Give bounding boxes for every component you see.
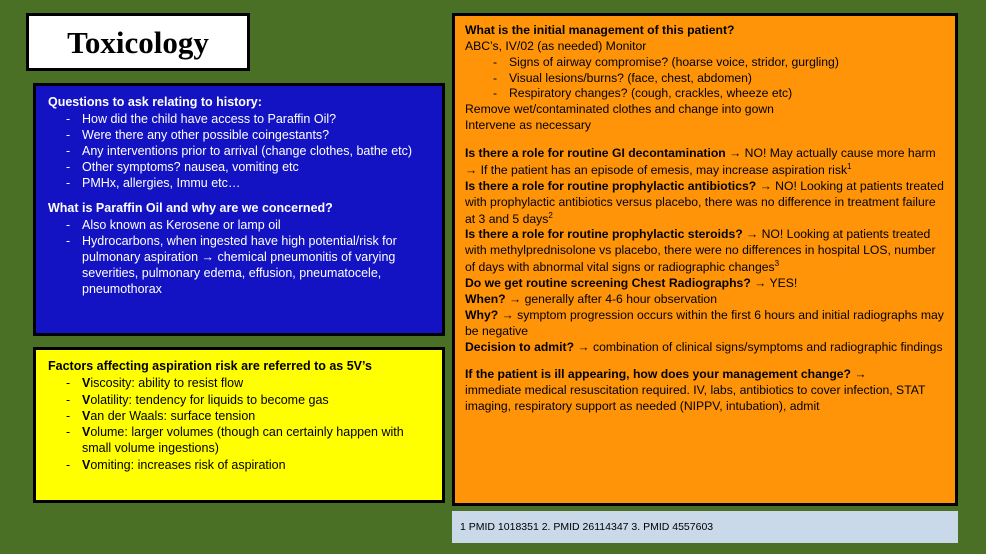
title-box: Toxicology bbox=[26, 13, 250, 71]
qa-block: When? → generally after 4-6 hour observa… bbox=[465, 292, 945, 308]
list-item-label: Visual lesions/burns? (face, chest, abdo… bbox=[509, 71, 752, 85]
initial-management-panel: What is the initial management of this p… bbox=[452, 13, 958, 506]
qa-citation: 1 bbox=[847, 162, 851, 171]
list-item-label: Other symptoms? nausea, vomiting etc bbox=[82, 160, 299, 174]
assessment-signs-list: -Signs of airway compromise? (hoarse voi… bbox=[465, 55, 945, 103]
list-item: -Respiratory changes? (cough, crackles, … bbox=[465, 86, 945, 102]
dash-bullet-icon: - bbox=[66, 159, 70, 175]
dash-bullet-icon: - bbox=[493, 86, 497, 102]
history-questions-list: -How did the child have access to Paraff… bbox=[48, 111, 432, 191]
qa-block: Is there a role for routine prophylactic… bbox=[465, 227, 945, 276]
aspiration-risk-list: -Viscosity: ability to resist flow -Vola… bbox=[48, 375, 432, 473]
ill-appearing-question: If the patient is ill appearing, how doe… bbox=[465, 367, 867, 381]
initial-management-question: What is the initial management of this p… bbox=[465, 23, 945, 39]
list-item-label: Respiratory changes? (cough, crackles, w… bbox=[509, 86, 792, 100]
list-item-label: an der Waals: surface tension bbox=[90, 409, 255, 423]
qa-answer: → YES! bbox=[751, 276, 798, 290]
qa-question: When? bbox=[465, 292, 506, 306]
qa-block: Do we get routine screening Chest Radiog… bbox=[465, 276, 945, 292]
qa-question: Do we get routine screening Chest Radiog… bbox=[465, 276, 751, 290]
qa-block: Why? → symptom progression occurs within… bbox=[465, 308, 945, 340]
dash-bullet-icon: - bbox=[66, 457, 70, 473]
qa-citation: 2 bbox=[548, 211, 552, 220]
list-item: -Viscosity: ability to resist flow bbox=[48, 375, 432, 391]
list-item-label: omiting: increases risk of aspiration bbox=[90, 458, 285, 472]
qa-answer: → combination of clinical signs/symptoms… bbox=[574, 340, 943, 354]
dash-bullet-icon: - bbox=[66, 175, 70, 191]
dash-bullet-icon: - bbox=[66, 127, 70, 143]
qa-question: Is there a role for routine prophylactic… bbox=[465, 227, 743, 241]
list-item: -Also known as Kerosene or lamp oil bbox=[48, 217, 432, 233]
dash-bullet-icon: - bbox=[66, 392, 70, 408]
list-item-label: Were there any other possible coingestan… bbox=[82, 128, 329, 142]
qa-answer: → symptom progression occurs within the … bbox=[465, 308, 944, 338]
qa-block: Is there a role for routine prophylactic… bbox=[465, 179, 945, 228]
paraffin-oil-heading: What is Paraffin Oil and why are we conc… bbox=[48, 200, 432, 216]
history-questions-heading: Questions to ask relating to history: bbox=[48, 94, 432, 110]
dash-bullet-icon: - bbox=[66, 217, 70, 233]
dash-bullet-icon: - bbox=[493, 55, 497, 71]
list-item: -How did the child have access to Paraff… bbox=[48, 111, 432, 127]
list-item: -Volume: larger volumes (though can cert… bbox=[48, 424, 432, 457]
aspiration-risk-heading: Factors affecting aspiration risk are re… bbox=[48, 358, 432, 374]
list-item: -Were there any other possible coingesta… bbox=[48, 127, 432, 143]
spacer bbox=[465, 355, 945, 367]
list-item-label: Also known as Kerosene or lamp oil bbox=[82, 218, 281, 232]
intervene-line: Intervene as necessary bbox=[465, 118, 945, 134]
list-item: -Van der Waals: surface tension bbox=[48, 408, 432, 424]
slide-canvas: Toxicology Questions to ask relating to … bbox=[0, 0, 986, 554]
history-questions-panel: Questions to ask relating to history: -H… bbox=[33, 83, 445, 336]
spacer bbox=[465, 134, 945, 146]
list-item-label: olume: larger volumes (though can certai… bbox=[82, 425, 404, 455]
list-item: -Visual lesions/burns? (face, chest, abd… bbox=[465, 71, 945, 87]
qa-citation: 3 bbox=[775, 259, 779, 268]
list-item: -Any interventions prior to arrival (cha… bbox=[48, 143, 432, 159]
qa-answer: → generally after 4-6 hour observation bbox=[506, 292, 717, 306]
list-item-label: Signs of airway compromise? (hoarse voic… bbox=[509, 55, 839, 69]
qa-question: Decision to admit? bbox=[465, 340, 574, 354]
page-title: Toxicology bbox=[67, 27, 209, 58]
list-item: -PMHx, allergies, Immu etc… bbox=[48, 175, 432, 191]
dash-bullet-icon: - bbox=[493, 71, 497, 87]
list-item-label: PMHx, allergies, Immu etc… bbox=[82, 176, 240, 190]
ill-appearing-block: If the patient is ill appearing, how doe… bbox=[465, 367, 945, 383]
qa-question: Why? bbox=[465, 308, 498, 322]
references-text: 1 PMID 1018351 2. PMID 26114347 3. PMID … bbox=[460, 521, 713, 533]
list-item-label: iscosity: ability to resist flow bbox=[90, 376, 243, 390]
list-item-label: How did the child have access to Paraffi… bbox=[82, 112, 336, 126]
aspiration-risk-panel: Factors affecting aspiration risk are re… bbox=[33, 347, 445, 503]
references-bar: 1 PMID 1018351 2. PMID 26114347 3. PMID … bbox=[452, 511, 958, 543]
list-item: -Other symptoms? nausea, vomiting etc bbox=[48, 159, 432, 175]
paraffin-oil-list: -Also known as Kerosene or lamp oil -Hyd… bbox=[48, 217, 432, 297]
ill-appearing-answer: immediate medical resuscitation required… bbox=[465, 383, 945, 415]
list-item: -Signs of airway compromise? (hoarse voi… bbox=[465, 55, 945, 71]
list-item: -Volatility: tendency for liquids to bec… bbox=[48, 392, 432, 408]
dash-bullet-icon: - bbox=[66, 375, 70, 391]
list-item: -Hydrocarbons, when ingested have high p… bbox=[48, 233, 432, 297]
list-item-label: Any interventions prior to arrival (chan… bbox=[82, 144, 412, 158]
qa-block: Is there a role for routine GI decontami… bbox=[465, 146, 945, 179]
qa-question: Is there a role for routine GI decontami… bbox=[465, 146, 726, 160]
qa-block: Decision to admit? → combination of clin… bbox=[465, 340, 945, 356]
list-item: -Vomiting: increases risk of aspiration bbox=[48, 457, 432, 473]
dash-bullet-icon: - bbox=[66, 111, 70, 127]
dash-bullet-icon: - bbox=[66, 424, 70, 440]
qa-question: Is there a role for routine prophylactic… bbox=[465, 179, 756, 193]
dash-bullet-icon: - bbox=[66, 408, 70, 424]
list-item-label: Hydrocarbons, when ingested have high po… bbox=[82, 234, 397, 296]
dash-bullet-icon: - bbox=[66, 143, 70, 159]
dash-bullet-icon: - bbox=[66, 233, 70, 249]
remove-clothes-line: Remove wet/contaminated clothes and chan… bbox=[465, 102, 945, 118]
list-item-label: olatility: tendency for liquids to becom… bbox=[90, 393, 328, 407]
initial-management-line-abcs: ABC’s, IV/02 (as needed) Monitor bbox=[465, 39, 945, 55]
